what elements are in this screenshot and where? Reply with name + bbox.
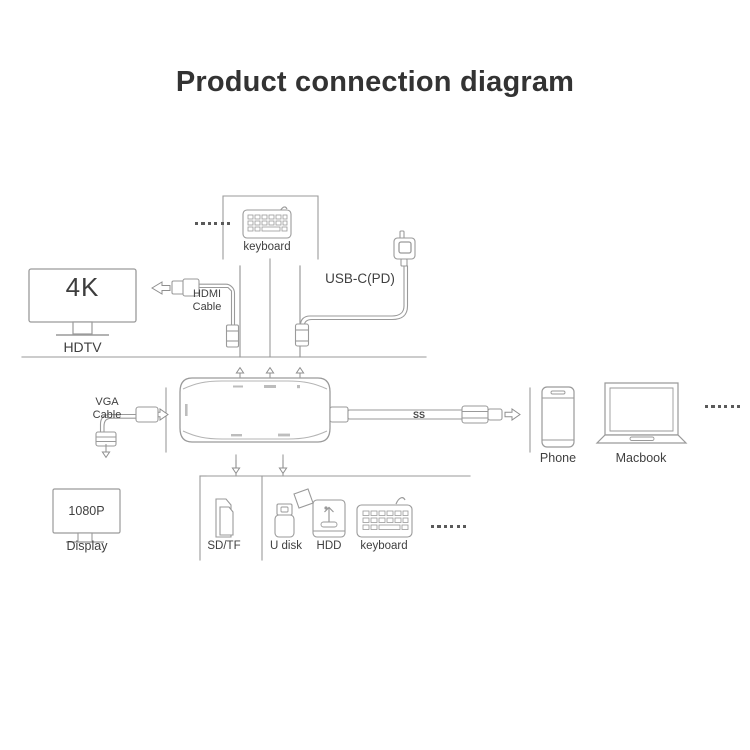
hdd-label: HDD [308, 540, 350, 553]
u-disk-label: U disk [260, 540, 312, 553]
hdtv-screen-text: 4K [29, 281, 136, 294]
keyboard-icon-top [243, 207, 291, 238]
connection-diagram: SS [0, 0, 750, 750]
phone-icon [542, 387, 574, 447]
display-label: Display [42, 540, 132, 553]
sd-tf-label: SD/TF [198, 540, 250, 553]
hdmi-connector-end [227, 325, 239, 347]
keyboard-bottom-label: keyboard [352, 540, 416, 553]
arrows-hub-bottom [232, 460, 286, 473]
hdmi-connector-tip [172, 281, 184, 294]
keyboard-top-label: keyboard [222, 241, 312, 254]
usb-c-hub [180, 378, 330, 442]
macbook-label: Macbook [603, 452, 679, 465]
usb-flash-drive-icon [275, 489, 313, 537]
display-screen-text: 1080P [53, 505, 120, 518]
ellipsis-right-hosts [705, 405, 740, 408]
ellipsis-bottom-devices [431, 525, 466, 528]
power-adapter-icon [394, 231, 415, 266]
arrow-to-hdtv [152, 282, 170, 294]
arrow-to-hosts [505, 409, 520, 420]
phone-label: Phone [530, 452, 586, 465]
laptop-icon [597, 383, 686, 443]
usbc-pd-label: USB-C(PD) [310, 272, 410, 285]
hard-drive-icon [313, 500, 345, 537]
sd-card-icon [216, 499, 233, 537]
hdtv-label: HDTV [29, 341, 136, 354]
superspeed-marking: SS [413, 410, 425, 420]
vga-cable-label: VGA Cable [85, 396, 129, 422]
hdmi-cable-label: HDMI Cable [186, 288, 228, 314]
ellipsis-keyboard-top [195, 222, 230, 225]
usbc-pd-connector [296, 324, 309, 346]
keyboard-icon-bottom [357, 498, 412, 537]
